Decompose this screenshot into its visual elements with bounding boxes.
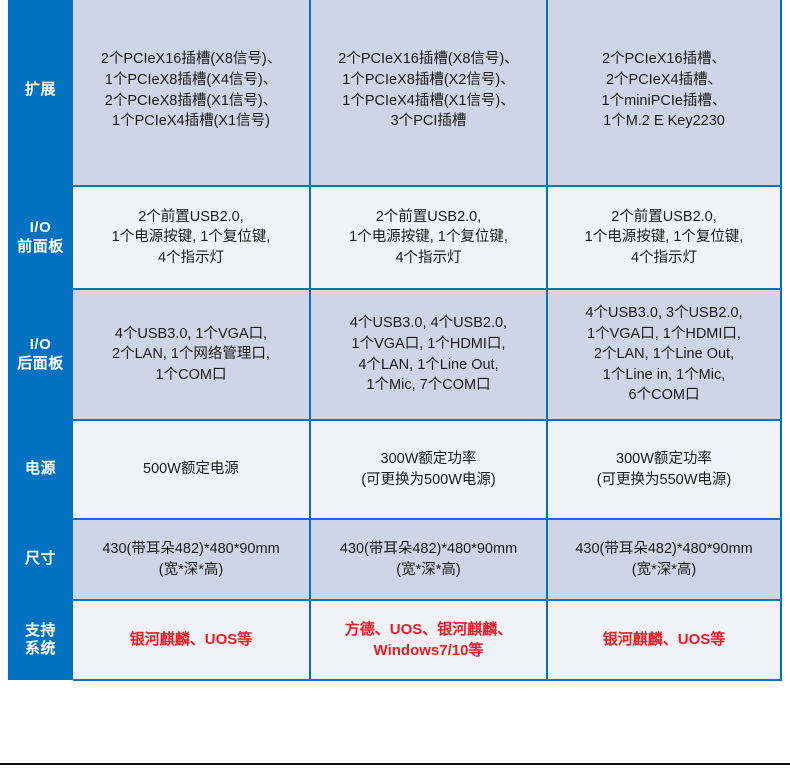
- spec-cell-line: 2个PCIeX4插槽、: [548, 70, 780, 91]
- page-bottom-rule: [0, 763, 790, 765]
- spec-cell-line: 6个COM口: [548, 385, 780, 406]
- spec-cell-line: 银河麒麟、UOS等: [548, 629, 780, 650]
- spec-cell-supported-os-col1: 银河麒麟、UOS等: [73, 600, 310, 680]
- spec-cell-line: 2个LAN, 1个Line Out,: [548, 344, 780, 365]
- spec-cell-expansion-col1: 2个PCIeX16插槽(X8信号)、1个PCIeX8插槽(X4信号)、2个PCI…: [73, 0, 310, 186]
- spec-cell-line: 1个PCIeX4插槽(X1信号)、: [311, 91, 546, 112]
- spec-cell-power-supply-col3: 300W额定功率(可更换为550W电源): [547, 420, 781, 519]
- row-label-line: I/O: [8, 336, 73, 354]
- spec-cell-line: 1个VGA口, 1个HDMI口,: [548, 324, 780, 345]
- spec-cell-line: 2个前置USB2.0,: [548, 207, 780, 228]
- spec-cell-io-front-panel-col1: 2个前置USB2.0,1个电源按键, 1个复位键,4个指示灯: [73, 186, 310, 289]
- spec-cell-line: 2个LAN, 1个网络管理口,: [73, 344, 309, 365]
- spec-cell-supported-os-col2: 方德、UOS、银河麒麟、Windows7/10等: [310, 600, 547, 680]
- spec-cell-io-front-panel-col3: 2个前置USB2.0,1个电源按键, 1个复位键,4个指示灯: [547, 186, 781, 289]
- row-label-line: 后面板: [8, 355, 73, 373]
- spec-cell-line: 1个VGA口, 1个HDMI口,: [311, 334, 546, 355]
- spec-cell-line: 4个指示灯: [311, 248, 546, 269]
- spec-row-io-front-panel: I/O前面板2个前置USB2.0,1个电源按键, 1个复位键,4个指示灯2个前置…: [8, 186, 781, 289]
- spec-cell-line: 1个PCIeX4插槽(X1信号): [73, 111, 309, 132]
- spec-cell-line: 2个PCIeX16插槽(X8信号)、: [73, 49, 309, 70]
- spec-cell-line: 300W额定功率: [311, 449, 546, 470]
- spec-cell-line: 1个miniPCIe插槽、: [548, 91, 780, 112]
- spec-cell-line: 500W额定电源: [73, 459, 309, 480]
- row-label-line: I/O: [8, 219, 73, 237]
- spec-cell-line: 1个PCIeX8插槽(X4信号)、: [73, 70, 309, 91]
- row-label-line: 扩展: [8, 81, 73, 99]
- row-label-line: 前面板: [8, 238, 73, 256]
- spec-cell-line: (宽*深*高): [73, 560, 309, 581]
- row-label-io-front-panel: I/O前面板: [8, 186, 73, 289]
- spec-cell-line: 1个电源按键, 1个复位键,: [73, 227, 309, 248]
- row-label-line: 支持: [8, 622, 73, 640]
- spec-cell-line: 1个电源按键, 1个复位键,: [311, 227, 546, 248]
- row-label-io-rear-panel: I/O后面板: [8, 289, 73, 420]
- spec-cell-line: 4个LAN, 1个Line Out,: [311, 355, 546, 376]
- spec-cell-line: 4个指示灯: [548, 248, 780, 269]
- spec-cell-line: 1个M.2 E Key2230: [548, 111, 780, 132]
- spec-cell-line: 1个Mic, 7个COM口: [311, 375, 546, 396]
- spec-cell-line: 300W额定功率: [548, 449, 780, 470]
- spec-cell-line: 2个PCIeX16插槽(X8信号)、: [311, 49, 546, 70]
- spec-cell-expansion-col2: 2个PCIeX16插槽(X8信号)、1个PCIeX8插槽(X2信号)、1个PCI…: [310, 0, 547, 186]
- spec-cell-dimensions-col1: 430(带耳朵482)*480*90mm(宽*深*高): [73, 519, 310, 600]
- spec-cell-line: (宽*深*高): [311, 560, 546, 581]
- spec-cell-io-rear-panel-col2: 4个USB3.0, 4个USB2.0,1个VGA口, 1个HDMI口,4个LAN…: [310, 289, 547, 420]
- spec-cell-line: 2个PCIeX8插槽(X1信号)、: [73, 91, 309, 112]
- spec-cell-line: 2个前置USB2.0,: [311, 207, 546, 228]
- spec-cell-line: Windows7/10等: [311, 640, 546, 661]
- spec-cell-power-supply-col2: 300W额定功率(可更换为500W电源): [310, 420, 547, 519]
- spec-cell-line: (宽*深*高): [548, 560, 780, 581]
- spec-cell-line: 银河麒麟、UOS等: [73, 629, 309, 650]
- spec-cell-line: 1个PCIeX8插槽(X2信号)、: [311, 70, 546, 91]
- row-label-dimensions: 尺寸: [8, 519, 73, 600]
- spec-cell-dimensions-col2: 430(带耳朵482)*480*90mm(宽*深*高): [310, 519, 547, 600]
- spec-cell-line: 4个USB3.0, 1个VGA口,: [73, 324, 309, 345]
- spec-row-supported-os: 支持系统银河麒麟、UOS等方德、UOS、银河麒麟、Windows7/10等银河麒…: [8, 600, 781, 680]
- spec-cell-line: 1个电源按键, 1个复位键,: [548, 227, 780, 248]
- row-label-line: 尺寸: [8, 550, 73, 568]
- spec-cell-line: 4个USB3.0, 4个USB2.0,: [311, 313, 546, 334]
- spec-cell-line: 1个Line in, 1个Mic,: [548, 365, 780, 386]
- spec-cell-line: 1个COM口: [73, 365, 309, 386]
- spec-cell-line: 方德、UOS、银河麒麟、: [311, 619, 546, 640]
- row-label-supported-os: 支持系统: [8, 600, 73, 680]
- spec-cell-line: 430(带耳朵482)*480*90mm: [73, 539, 309, 560]
- spec-cell-line: 4个USB3.0, 3个USB2.0,: [548, 303, 780, 324]
- row-label-expansion: 扩展: [8, 0, 73, 186]
- row-label-power-supply: 电源: [8, 420, 73, 519]
- spec-cell-supported-os-col3: 银河麒麟、UOS等: [547, 600, 781, 680]
- spec-row-expansion: 扩展2个PCIeX16插槽(X8信号)、1个PCIeX8插槽(X4信号)、2个P…: [8, 0, 781, 186]
- spec-cell-expansion-col3: 2个PCIeX16插槽、2个PCIeX4插槽、1个miniPCIe插槽、1个M.…: [547, 0, 781, 186]
- spec-cell-line: 430(带耳朵482)*480*90mm: [311, 539, 546, 560]
- spec-table-body: 扩展2个PCIeX16插槽(X8信号)、1个PCIeX8插槽(X4信号)、2个P…: [8, 0, 781, 680]
- row-label-line: 系统: [8, 640, 73, 658]
- spec-row-dimensions: 尺寸430(带耳朵482)*480*90mm(宽*深*高)430(带耳朵482)…: [8, 519, 781, 600]
- spec-cell-line: 2个前置USB2.0,: [73, 207, 309, 228]
- spec-cell-line: 3个PCI插槽: [311, 111, 546, 132]
- specification-table: 扩展2个PCIeX16插槽(X8信号)、1个PCIeX8插槽(X4信号)、2个P…: [8, 0, 782, 681]
- spec-cell-power-supply-col1: 500W额定电源: [73, 420, 310, 519]
- spec-cell-line: (可更换为500W电源): [311, 470, 546, 491]
- spec-row-io-rear-panel: I/O后面板4个USB3.0, 1个VGA口,2个LAN, 1个网络管理口,1个…: [8, 289, 781, 420]
- spec-cell-dimensions-col3: 430(带耳朵482)*480*90mm(宽*深*高): [547, 519, 781, 600]
- row-label-line: 电源: [8, 460, 73, 478]
- spec-cell-line: 2个PCIeX16插槽、: [548, 49, 780, 70]
- spec-cell-line: (可更换为550W电源): [548, 470, 780, 491]
- spec-row-power-supply: 电源500W额定电源300W额定功率(可更换为500W电源)300W额定功率(可…: [8, 420, 781, 519]
- spec-cell-io-rear-panel-col3: 4个USB3.0, 3个USB2.0,1个VGA口, 1个HDMI口,2个LAN…: [547, 289, 781, 420]
- spec-cell-io-front-panel-col2: 2个前置USB2.0,1个电源按键, 1个复位键,4个指示灯: [310, 186, 547, 289]
- spec-cell-line: 4个指示灯: [73, 248, 309, 269]
- spec-cell-io-rear-panel-col1: 4个USB3.0, 1个VGA口,2个LAN, 1个网络管理口,1个COM口: [73, 289, 310, 420]
- spec-cell-line: 430(带耳朵482)*480*90mm: [548, 539, 780, 560]
